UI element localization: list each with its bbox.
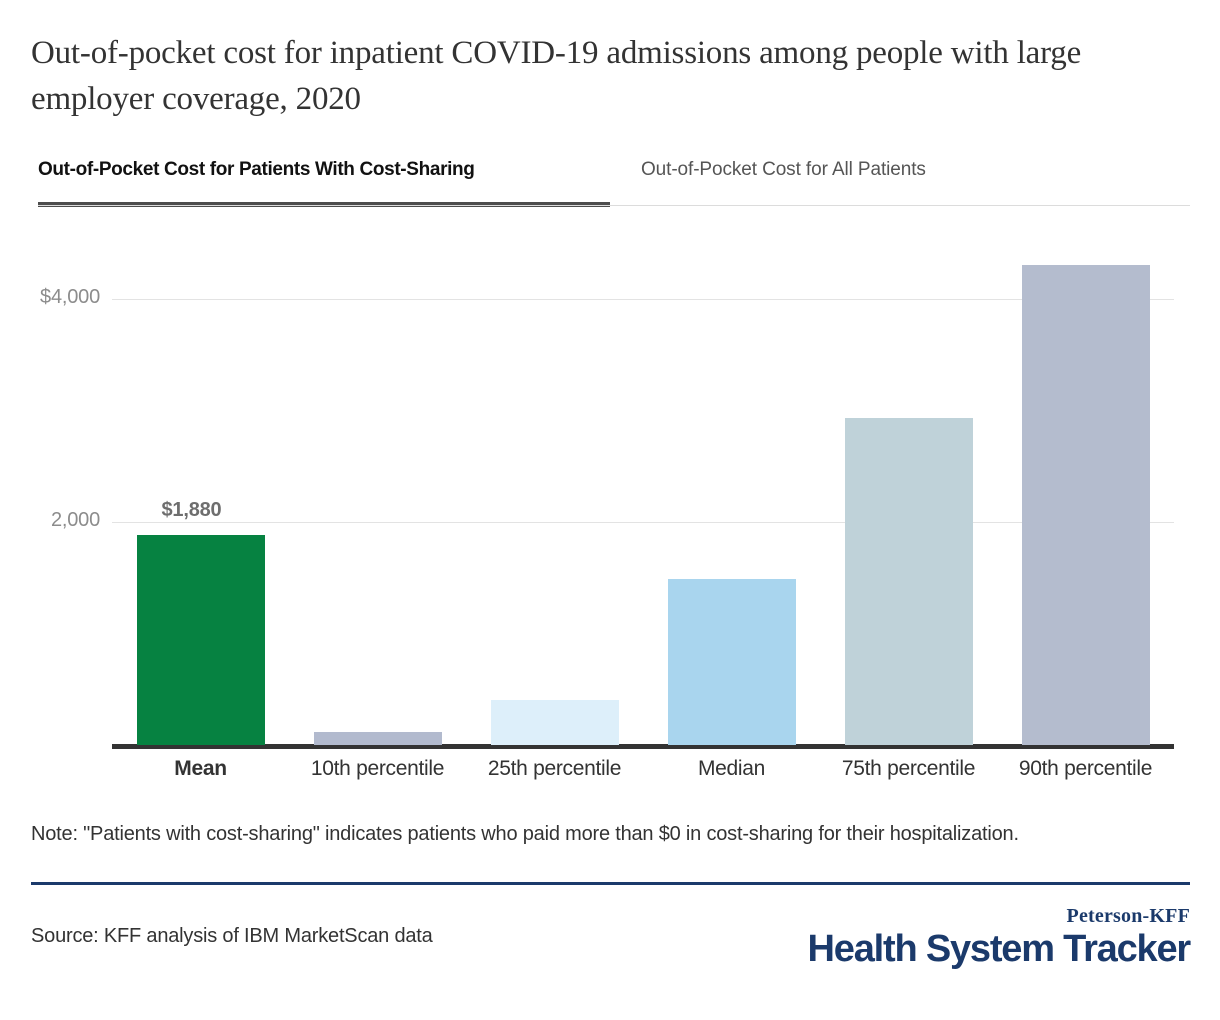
- x-axis-line: [112, 744, 1174, 749]
- chart-page: Out-of-pocket cost for inpatient COVID-1…: [0, 0, 1220, 1020]
- x-axis-tick-label: 75th percentile: [820, 757, 997, 781]
- bar-chart-plot: $4,0002,000$1,880Mean10th percentile25th…: [0, 0, 1220, 1020]
- logo-health-system-tracker: Health System Tracker: [808, 927, 1190, 971]
- gridline: [112, 299, 1174, 300]
- y-axis-tick-label: 2,000: [51, 509, 100, 532]
- x-axis-tick-label: Median: [643, 757, 820, 781]
- gridline: [112, 522, 1174, 523]
- y-axis-tick-label: $4,000: [40, 286, 100, 309]
- x-axis-tick-label: Mean: [112, 757, 289, 781]
- bar-25th-percentile[interactable]: [491, 700, 619, 745]
- bar-mean[interactable]: [137, 535, 265, 745]
- x-axis-tick-label: 10th percentile: [289, 757, 466, 781]
- x-axis-tick-label: 25th percentile: [466, 757, 643, 781]
- bar-10th-percentile[interactable]: [314, 732, 442, 745]
- brand-logo: Peterson-KFF Health System Tracker: [808, 905, 1190, 971]
- x-axis-tick-label: 90th percentile: [997, 757, 1174, 781]
- bar-value-label: $1,880: [162, 499, 222, 522]
- bar-median[interactable]: [668, 579, 796, 745]
- logo-peterson-kff: Peterson-KFF: [808, 905, 1190, 927]
- bar-75th-percentile[interactable]: [845, 418, 973, 745]
- bar-90th-percentile[interactable]: [1022, 265, 1150, 745]
- chart-note: Note: "Patients with cost-sharing" indic…: [31, 820, 1091, 848]
- source-text: Source: KFF analysis of IBM MarketScan d…: [31, 925, 433, 948]
- footer-divider: [31, 882, 1190, 885]
